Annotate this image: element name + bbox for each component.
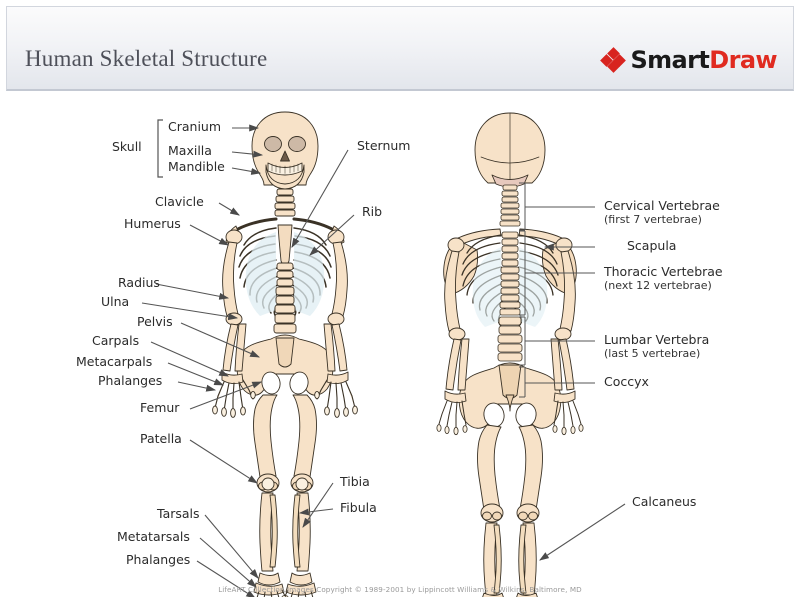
label-cervical-vertebrae: Cervical Vertebrae bbox=[604, 199, 720, 214]
label-lumbar-sub: (last 5 vertebrae) bbox=[604, 348, 700, 361]
label-tibia: Tibia bbox=[340, 475, 370, 490]
label-metacarpals: Metacarpals bbox=[76, 355, 152, 370]
posterior-skeleton bbox=[437, 113, 583, 597]
diagram-canvas: Skull Cranium Maxilla Mandible Clavicle … bbox=[0, 95, 800, 597]
label-carpals: Carpals bbox=[92, 334, 139, 349]
label-sternum: Sternum bbox=[357, 139, 410, 154]
smartdraw-logo: SmartDraw bbox=[602, 46, 777, 74]
label-cranium: Cranium bbox=[168, 120, 221, 135]
label-tarsals: Tarsals bbox=[157, 507, 200, 522]
page-title: Human Skeletal Structure bbox=[25, 46, 267, 72]
label-femur: Femur bbox=[140, 401, 179, 416]
slide-header: Human Skeletal Structure SmartDraw bbox=[6, 6, 794, 91]
anterior-skeleton bbox=[213, 112, 358, 597]
logo-text-smart: Smart bbox=[630, 46, 709, 74]
label-skull: Skull bbox=[112, 140, 142, 155]
label-rib: Rib bbox=[362, 205, 382, 220]
label-thoracic-vertebrae: Thoracic Vertebrae bbox=[604, 265, 723, 280]
label-phalanges-hand: Phalanges bbox=[98, 374, 162, 389]
copyright-note: LifeART Collection Images Copyright © 19… bbox=[0, 585, 800, 594]
label-radius: Radius bbox=[118, 276, 160, 291]
label-thoracic-sub: (next 12 vertebrae) bbox=[604, 280, 712, 293]
label-lumbar-vertebra: Lumbar Vertebra bbox=[604, 333, 709, 348]
label-humerus: Humerus bbox=[124, 217, 181, 232]
slide-page: Human Skeletal Structure SmartDraw bbox=[0, 0, 800, 597]
label-coccyx: Coccyx bbox=[604, 375, 649, 390]
label-patella: Patella bbox=[140, 432, 182, 447]
label-ulna: Ulna bbox=[101, 295, 129, 310]
label-pelvis: Pelvis bbox=[137, 315, 173, 330]
label-mandible: Mandible bbox=[168, 160, 225, 175]
logo-text-draw: Draw bbox=[709, 46, 777, 74]
label-metatarsals: Metatarsals bbox=[117, 530, 190, 545]
label-maxilla: Maxilla bbox=[168, 144, 212, 159]
label-phalanges-foot: Phalanges bbox=[126, 553, 190, 568]
diamond-logo-icon bbox=[602, 49, 624, 71]
label-scapula: Scapula bbox=[627, 239, 676, 254]
label-calcaneus: Calcaneus bbox=[632, 495, 696, 510]
label-clavicle: Clavicle bbox=[155, 195, 204, 210]
label-cervical-sub: (first 7 vertebrae) bbox=[604, 214, 702, 227]
label-fibula: Fibula bbox=[340, 501, 377, 516]
